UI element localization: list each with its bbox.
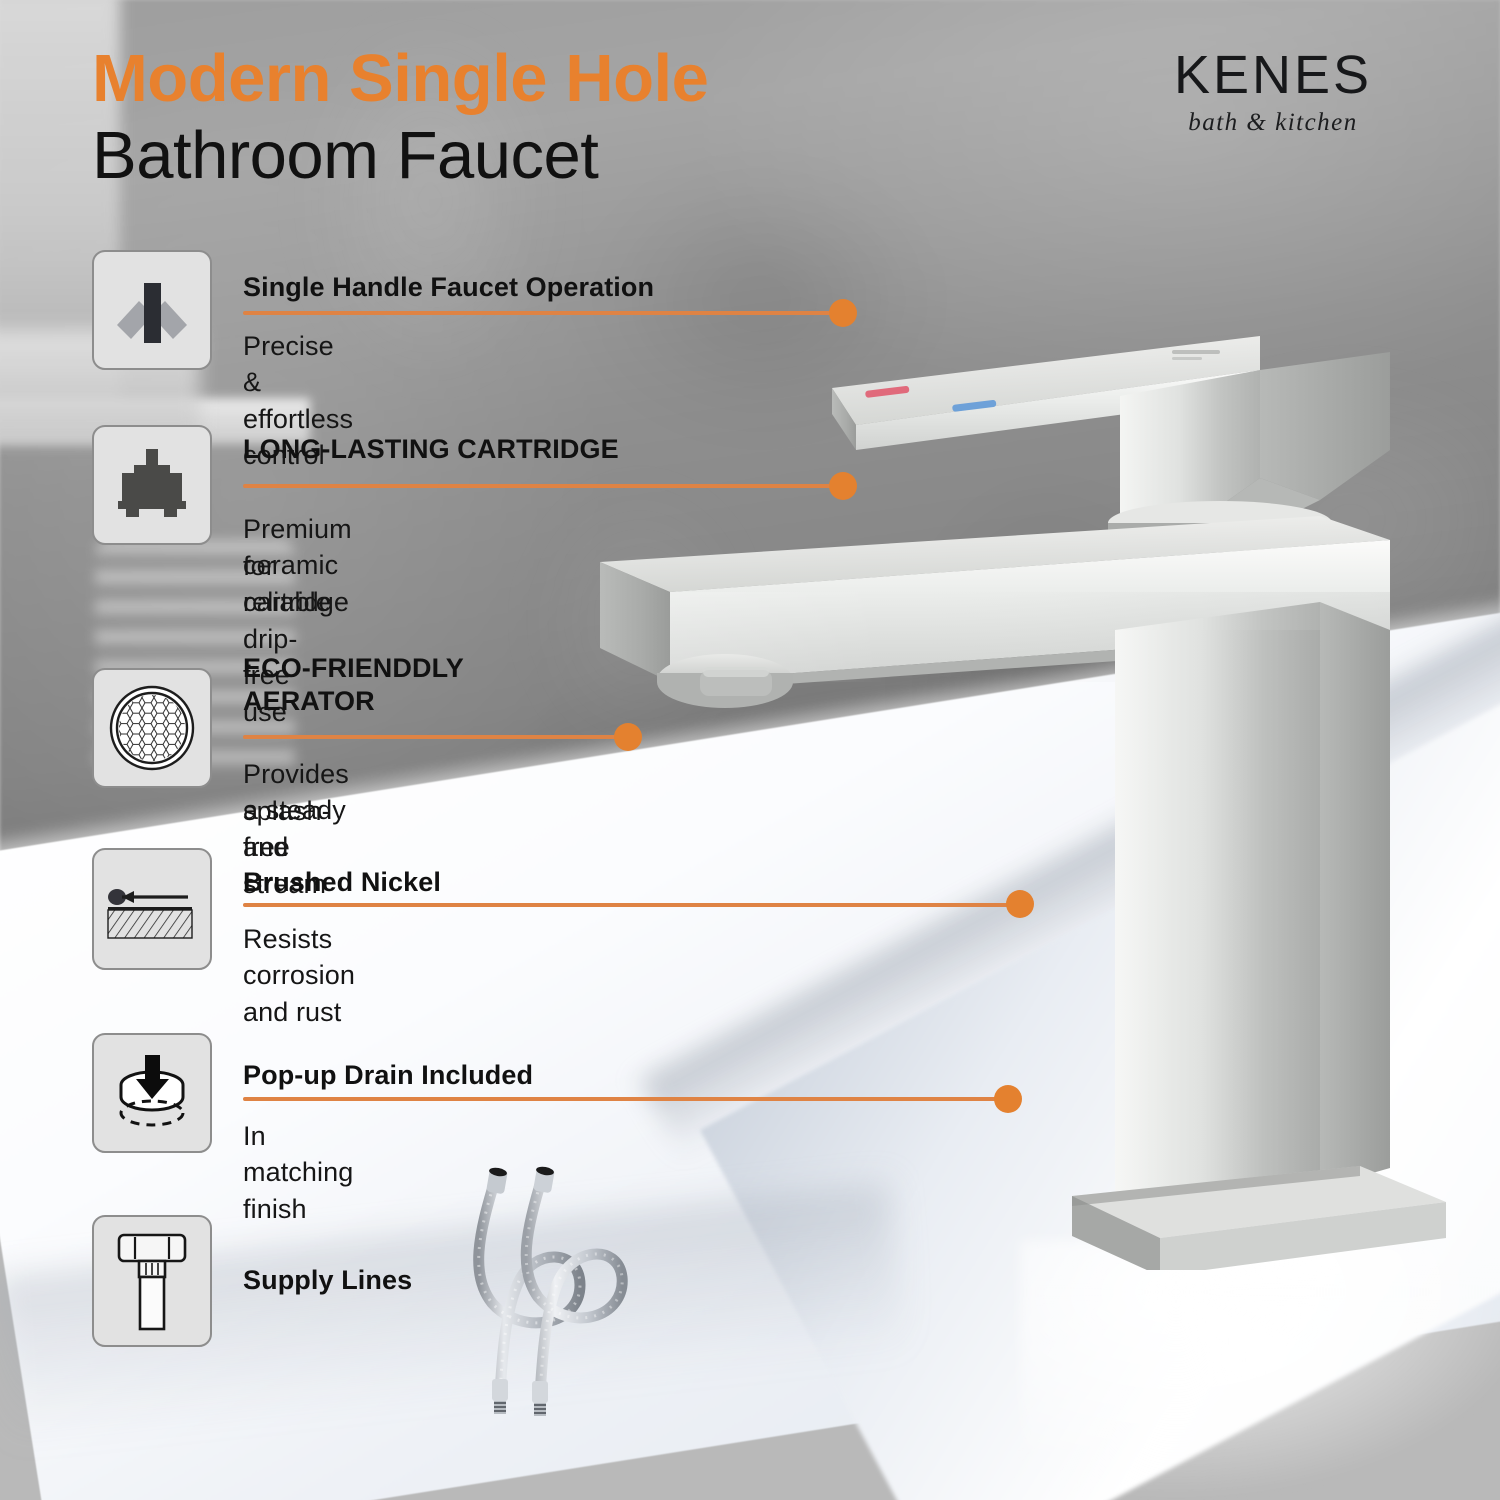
lead-line-popup-drain [243, 1097, 1011, 1101]
brand-tagline: bath & kitchen [1168, 109, 1378, 137]
feature-title-aerator-line1: ECO-FRIENDDLY [243, 653, 464, 683]
feature-desc-popup-drain: In matching finish [243, 1118, 353, 1227]
lead-dot-aerator [614, 723, 642, 751]
lead-line-brushed-nickel [243, 903, 1023, 907]
aerator-mesh-icon [106, 682, 198, 774]
brand-logo: KENES bath & kitchen [1168, 48, 1378, 137]
icon-box-supply-lines [92, 1215, 212, 1347]
feature-title-single-handle: Single Handle Faucet Operation [243, 272, 654, 303]
faucet-column [1115, 602, 1390, 1210]
icon-box-single-handle [92, 250, 212, 370]
lead-dot-brushed-nickel [1006, 890, 1034, 918]
hose-connector-top-b [533, 1165, 555, 1193]
lead-line-cartridge [243, 484, 843, 488]
sink-gloss-highlight [1020, 1240, 1500, 1500]
lead-line-aerator [243, 735, 623, 739]
lead-dot-popup-drain [994, 1085, 1022, 1113]
feature-desc-brushed-nickel: Resists corrosion and rust [243, 921, 355, 1030]
feature-title-popup-drain: Pop-up Drain Included [243, 1060, 533, 1091]
title-line-1: Modern Single Hole [92, 44, 708, 114]
feature-title-aerator: ECO-FRIENDDLY AERATOR [243, 652, 563, 718]
single-handle-arrows-icon [109, 267, 195, 353]
icon-box-aerator [92, 668, 212, 788]
supply-hoses-image [430, 1165, 650, 1425]
supply-line-fitting-icon [113, 1227, 191, 1335]
supply-hose-b [526, 1175, 622, 1395]
ceramic-cartridge-icon [110, 443, 194, 527]
feature-title-cartridge: LONG-LASTING CARTRIDGE [243, 434, 619, 465]
feature-title-brushed-nickel: Brushed Nickel [243, 867, 441, 898]
lead-dot-single-handle [829, 299, 857, 327]
icon-box-popup-drain [92, 1033, 212, 1153]
page-header: Modern Single Hole Bathroom Faucet KENES… [0, 0, 1500, 220]
popup-drain-icon [108, 1049, 196, 1137]
faucet-aerator-outlet [657, 654, 793, 708]
brand-name: KENES [1168, 48, 1378, 102]
faucet-product-image [560, 330, 1460, 1270]
feature-title-aerator-line2: AERATOR [243, 686, 375, 716]
title-line-2: Bathroom Faucet [92, 118, 708, 193]
hose-threaded-end-a [492, 1379, 508, 1414]
lead-dot-cartridge [829, 472, 857, 500]
feature-title-supply-lines: Supply Lines [243, 1265, 412, 1296]
hose-threaded-end-b [532, 1381, 548, 1416]
page-title: Modern Single Hole Bathroom Faucet [92, 44, 708, 193]
hose-connector-top-a [486, 1166, 508, 1194]
brushed-finish-icon [104, 869, 200, 949]
lead-line-single-handle [243, 311, 843, 315]
icon-box-brushed-nickel [92, 848, 212, 970]
icon-box-cartridge [92, 425, 212, 545]
